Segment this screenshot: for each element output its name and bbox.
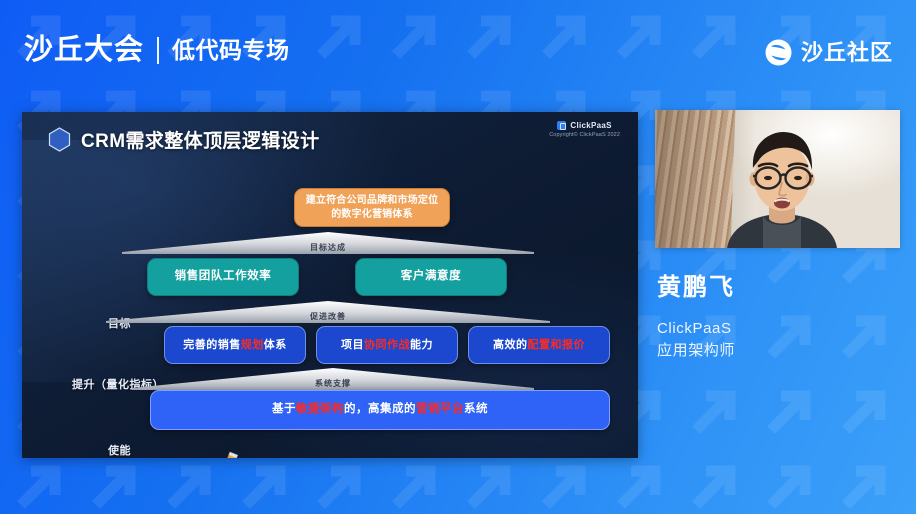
speaker-org-label: ClickPaaS (657, 318, 735, 340)
enable-box-3-highlight: 配置和报价 (528, 339, 586, 351)
page-header: 沙丘大会 低代码专场 沙丘社区 (0, 0, 916, 104)
tier-label-enable: 使能 (108, 442, 131, 458)
enable-box-1-post: 体系 (264, 339, 287, 351)
support-box-seg1: 基于 (272, 403, 296, 415)
page-title: CRM需求整体顶层逻辑设计 (81, 126, 319, 153)
vendor-badge: ClickPaaS Copyright© ClickPaaS 2022 (549, 121, 620, 138)
slide-canvas[interactable]: CRM需求整体顶层逻辑设计 ClickPaaS Copyright© Click… (22, 112, 638, 458)
hexagon-icon (48, 127, 71, 152)
kpi-box-sales-efficiency[interactable]: 销售团队工作效率 (147, 258, 299, 296)
enable-box-2-post: 能力 (410, 339, 433, 351)
vendor-name-label: ClickPaaS (570, 121, 611, 130)
speaker-webcam-feed[interactable] (655, 110, 900, 248)
community-logo: 沙丘社区 (765, 39, 893, 66)
support-box-highlight-2: 营销平台 (416, 403, 464, 415)
vendor-logo-row: ClickPaaS (549, 121, 620, 130)
support-box-seg3: 系统 (464, 403, 488, 415)
chevron-band-goal-achieved: 目标达成 (122, 232, 534, 254)
enable-box-2-highlight: 协同作战 (364, 339, 410, 351)
support-box-highlight-1: 敏捷架构 (296, 403, 344, 415)
sand-dune-s-mark-icon (765, 39, 792, 66)
chevron-band-promote-improvement: 促进改善 (106, 301, 550, 323)
goal-box-line1: 建立符合公司品牌和市场定位 (306, 195, 439, 206)
enable-box-3-pre: 高效的 (493, 339, 528, 351)
goal-box-line2: 的数字化营销体系 (331, 209, 413, 220)
speaker-portrait (717, 124, 847, 248)
brand-title: 沙丘大会 低代码专场 (24, 36, 290, 65)
slide-title-row: CRM需求整体顶层逻辑设计 (48, 126, 319, 153)
support-box-seg2: 的，高集成的 (344, 403, 416, 415)
support-box-platform[interactable]: 基于敏捷架构的，高集成的营销平台系统 (150, 390, 610, 430)
enable-box-collaboration[interactable]: 项目协同作战能力 (316, 326, 458, 364)
enable-box-1-highlight: 规划 (241, 339, 264, 351)
brand-divider (157, 37, 159, 64)
enable-box-configure-quote[interactable]: 高效的配置和报价 (468, 326, 610, 364)
community-name-label: 沙丘社区 (801, 42, 893, 64)
chevron-band-label-2: 促进改善 (310, 311, 346, 322)
chevron-band-label-1: 目标达成 (310, 242, 346, 253)
clickpaas-logo-icon (557, 121, 566, 130)
brand-main-label: 沙丘大会 (24, 36, 144, 65)
speaker-role-label: 应用架构师 (657, 340, 735, 362)
speaker-name-label: 黄鹏飞 (657, 276, 735, 300)
brand-sub-label: 低代码专场 (172, 39, 290, 62)
presentation-stage: 沙丘大会 低代码专场 沙丘社区 CRM (0, 0, 916, 514)
enable-box-1-pre: 完善的销售 (183, 339, 241, 351)
kpi-box-customer-satisfaction[interactable]: 客户满意度 (355, 258, 507, 296)
vendor-copyright-label: Copyright© ClickPaaS 2022 (549, 132, 620, 138)
enable-box-sales-planning[interactable]: 完善的销售规划体系 (164, 326, 306, 364)
enable-box-2-pre: 项目 (341, 339, 364, 351)
chevron-band-label-3: 系统支撑 (315, 378, 351, 389)
goal-box[interactable]: 建立符合公司品牌和市场定位 的数字化营销体系 (294, 188, 450, 227)
speaker-info: 黄鹏飞 ClickPaaS 应用架构师 (657, 276, 735, 362)
chevron-band-system-support: 系统支撑 (132, 368, 534, 390)
pencil-cursor-icon (218, 450, 242, 458)
